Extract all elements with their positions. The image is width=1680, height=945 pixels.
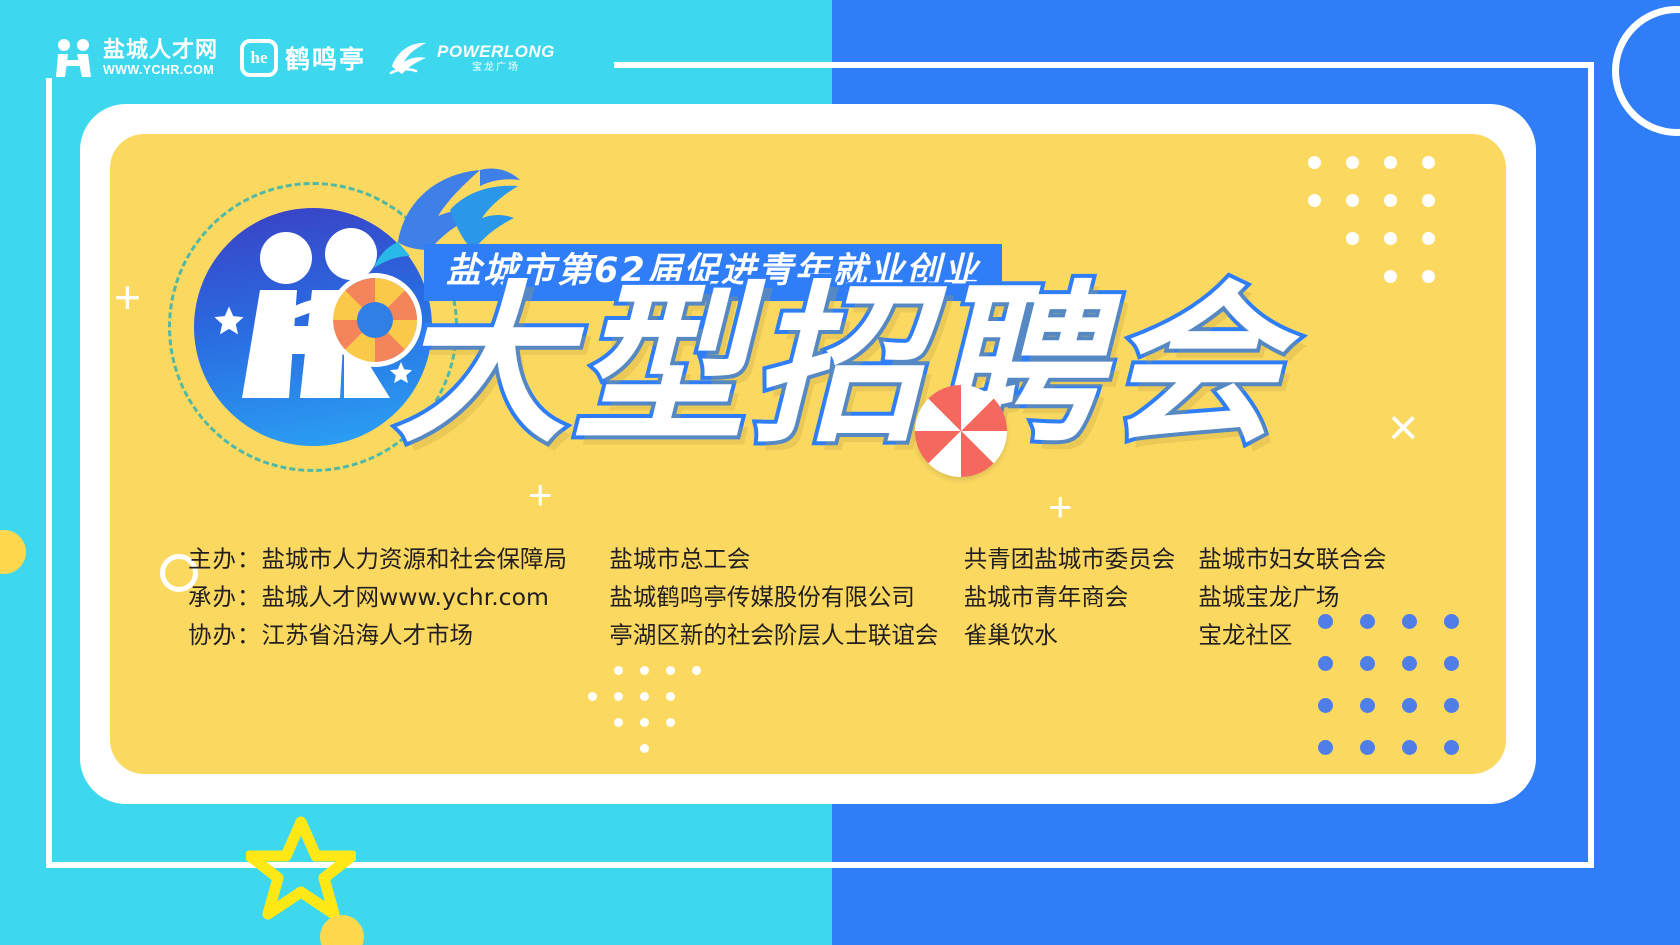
star-decoration-bottom (246, 816, 356, 920)
plus-mark-center: + (528, 474, 553, 516)
organizer-undertaker-col3: 盐城宝龙广场 (1198, 578, 1428, 616)
organizer-undertaker-col1: 盐城鹤鸣亭传媒股份有限公司 (609, 578, 963, 616)
organizer-host-col1: 盐城市总工会 (609, 540, 963, 578)
poster-main-title: 大型招聘会 (395, 280, 1285, 452)
logo-hemingting-name: 鹤鸣亭 (285, 40, 366, 76)
logo-ychr[interactable]: 盐城人才网 WWW.YCHR.COM (52, 38, 218, 78)
organizer-coorganizer-col1: 亭湖区新的社会阶层人士联谊会 (609, 616, 963, 654)
plus-mark-right: + (1048, 486, 1073, 528)
dot-grid-bottom-center (588, 666, 718, 770)
dragon-swirl-icon (388, 40, 430, 76)
plus-mark-left: + (114, 274, 141, 320)
organizer-undertaker-cell: 承办：盐城人才网www.ychr.com (188, 578, 609, 616)
frame-left-line (46, 78, 52, 868)
hemingting-badge-text: he (251, 48, 268, 68)
table-row: 承办：盐城人才网www.ychr.com 盐城鹤鸣亭传媒股份有限公司 盐城市青年… (188, 578, 1428, 616)
frame-right-line (1588, 62, 1594, 868)
logo-powerlong-cn: 宝龙广场 (472, 63, 520, 73)
organizer-host-col2: 共青团盐城市委员会 (964, 540, 1199, 578)
organizer-undertaker-col2: 盐城市青年商会 (964, 578, 1199, 616)
organizer-host-value: 盐城市人力资源和社会保障局 (262, 545, 568, 573)
logo-powerlong-en: POWERLONG (437, 43, 555, 60)
table-row: 主办：盐城市人力资源和社会保障局 盐城市总工会 共青团盐城市委员会 盐城市妇女联… (188, 540, 1428, 578)
hr-people-icon (52, 38, 96, 78)
hemingting-badge-icon: he (240, 39, 278, 77)
organizer-coorganizer-col3: 宝龙社区 (1198, 616, 1428, 654)
header-logo-bar: 盐城人才网 WWW.YCHR.COM he 鹤鸣亭 POWERLONG 宝龙广场 (52, 30, 555, 86)
organizer-coorganizer-label: 协办： (188, 621, 262, 649)
organizer-coorganizer-col2: 雀巢饮水 (964, 616, 1199, 654)
organizer-host-cell: 主办：盐城市人力资源和社会保障局 (188, 540, 609, 578)
table-row: 协办：江苏省沿海人才市场 亭湖区新的社会阶层人士联谊会 雀巢饮水 宝龙社区 (188, 616, 1428, 654)
organizer-host-col3: 盐城市妇女联合会 (1198, 540, 1428, 578)
logo-powerlong[interactable]: POWERLONG 宝龙广场 (388, 40, 555, 76)
organizer-coorganizer-value: 江苏省沿海人才市场 (262, 621, 474, 649)
organizers-table: 主办：盐城市人力资源和社会保障局 盐城市总工会 共青团盐城市委员会 盐城市妇女联… (188, 540, 1428, 654)
logo-hemingting[interactable]: he 鹤鸣亭 (240, 39, 366, 77)
logo-ychr-url: WWW.YCHR.COM (103, 64, 218, 77)
logo-ychr-name: 盐城人才网 (103, 39, 218, 61)
organizer-undertaker-value: 盐城人才网www.ychr.com (262, 583, 549, 611)
organizer-coorganizer-cell: 协办：江苏省沿海人才市场 (188, 616, 609, 654)
organizer-undertaker-label: 承办： (188, 583, 262, 611)
organizer-host-label: 主办： (188, 545, 262, 573)
frame-top-line (614, 62, 1594, 68)
beach-ball-icon (915, 385, 1007, 477)
